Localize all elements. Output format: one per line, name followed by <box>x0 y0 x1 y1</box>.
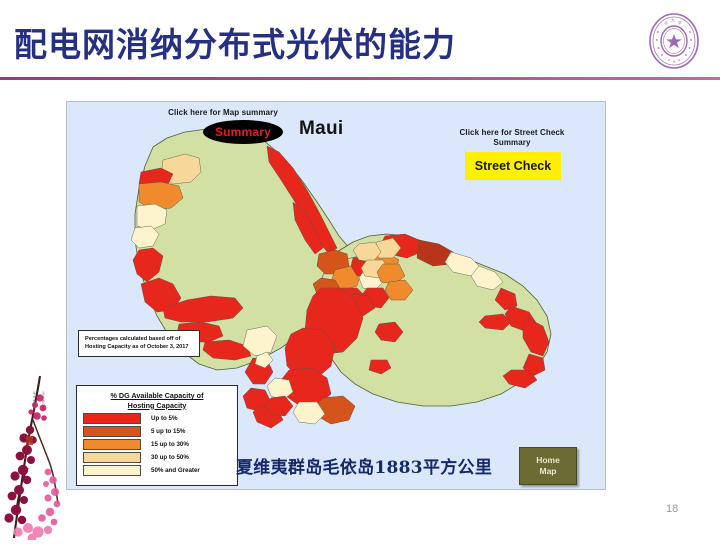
legend-item: 50% and Greater <box>83 465 231 476</box>
legend-item: 30 up to 50% <box>83 452 231 463</box>
plum-blossom-decoration-icon: 墙角数 枝梅 凌寒独 自开 <box>0 372 72 540</box>
svg-text:自: 自 <box>42 403 45 407</box>
svg-text:墙: 墙 <box>33 391 36 395</box>
legend-item: Up to 5% <box>83 413 231 424</box>
svg-text:学: 学 <box>678 20 682 25</box>
svg-text:数: 数 <box>33 399 36 403</box>
hosting-capacity-note: Percentages calculated based off of Host… <box>78 330 200 357</box>
svg-text:梅: 梅 <box>33 407 36 411</box>
page-title: 配电网消纳分布式光伏的能力 <box>14 18 456 66</box>
legend-label: Up to 5% <box>151 415 177 422</box>
legend-swatch <box>83 465 141 476</box>
page-number: 18 <box>666 503 678 515</box>
map-summary-hint: Click here for Map summary <box>143 108 303 118</box>
legend-swatch <box>83 452 141 463</box>
maui-hosting-capacity-map-panel[interactable]: Click here for Map summary Summary Maui … <box>66 101 606 490</box>
legend-swatch <box>83 439 141 450</box>
map-heading: Maui <box>299 118 343 140</box>
legend-label: 50% and Greater <box>151 467 200 474</box>
home-map-line2: Map <box>540 466 557 477</box>
legend-item: 15 up to 30% <box>83 439 231 450</box>
map-caption: 夏维夷群岛毛依岛1883平方公里 <box>236 453 492 478</box>
home-map-line1: Home <box>536 455 560 466</box>
legend-label: 15 up to 30% <box>151 441 189 448</box>
svg-text:独: 独 <box>42 399 45 403</box>
svg-text:凌: 凌 <box>42 391 45 395</box>
legend-swatch <box>83 426 141 437</box>
map-legend: % DG Available Capacity of Hosting Capac… <box>76 385 238 486</box>
summary-button[interactable]: Summary <box>203 120 283 144</box>
svg-text:寒: 寒 <box>42 395 45 399</box>
legend-label: 5 up to 15% <box>151 428 185 435</box>
legend-item: 5 up to 15% <box>83 426 231 437</box>
legend-title-line1: % DG Available Capacity of <box>111 391 204 400</box>
legend-title: % DG Available Capacity of Hosting Capac… <box>83 391 231 410</box>
street-check-button[interactable]: Street Check <box>465 152 561 180</box>
title-divider <box>0 77 720 80</box>
legend-title-line2: Hosting Capacity <box>128 401 187 410</box>
svg-text:枝: 枝 <box>33 403 36 407</box>
svg-text:北: 北 <box>664 20 668 25</box>
university-seal-icon: 北大学 <box>645 10 703 72</box>
legend-label: 30 up to 50% <box>151 454 189 461</box>
legend-swatch <box>83 413 141 424</box>
svg-text:开: 开 <box>42 408 45 411</box>
svg-text:大: 大 <box>671 18 675 23</box>
home-map-button[interactable]: Home Map <box>519 447 577 485</box>
street-check-hint: Click here for Street Check Summary <box>452 128 572 148</box>
svg-text:角: 角 <box>33 395 36 399</box>
